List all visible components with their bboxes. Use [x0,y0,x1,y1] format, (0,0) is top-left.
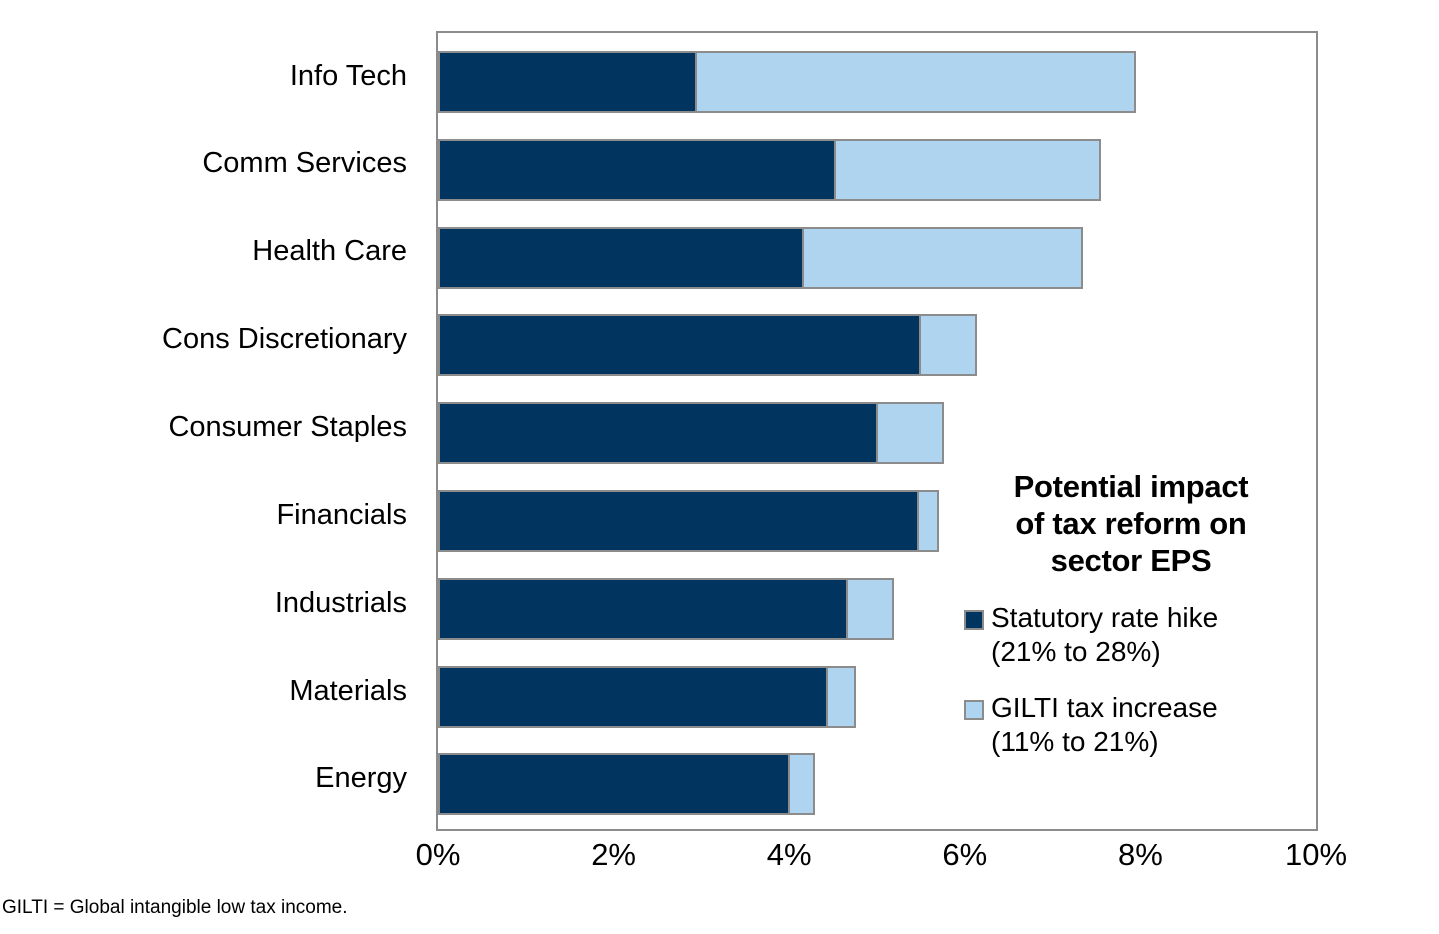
category-label-energy: Energy [0,764,421,793]
chart-legend: Potential impact of tax reform on sector… [958,468,1304,759]
bar-segment-energy-statutory[interactable] [438,753,790,815]
category-label-consumer-staples: Consumer Staples [0,413,421,442]
bar-segment-energy-gilti[interactable] [788,753,815,815]
bar-row-industrials[interactable] [438,578,894,640]
category-label-comm-services: Comm Services [0,149,421,178]
chart-footnote: GILTI = Global intangible low tax income… [2,897,348,919]
bar-row-comm-services[interactable] [438,139,1101,201]
bar-segment-industrials-gilti[interactable] [846,578,894,640]
bar-segment-info-tech-statutory[interactable] [438,51,697,113]
category-label-cons-discretionary: Cons Discretionary [0,325,421,354]
category-label-info-tech: Info Tech [0,62,421,91]
x-tick-label-10: 10% [1285,838,1347,872]
x-axis-tick-labels: 0%2%4%6%8%10% [436,838,1318,878]
category-label-health-care: Health Care [0,237,421,266]
bar-row-materials[interactable] [438,666,856,728]
chart-title: Potential impact of tax reform on sector… [958,468,1304,579]
category-label-industrials: Industrials [0,589,421,618]
bar-segment-materials-statutory[interactable] [438,666,828,728]
legend-label-gilti-line-1: GILTI tax increase [991,692,1218,723]
bar-segment-materials-gilti[interactable] [826,666,856,728]
x-tick-label-8: 8% [1118,838,1163,872]
bar-segment-cons-discretionary-statutory[interactable] [438,314,921,376]
bar-segment-financials-statutory[interactable] [438,490,919,552]
bar-segment-comm-services-statutory[interactable] [438,139,836,201]
bar-segment-industrials-statutory[interactable] [438,578,848,640]
stacked-bar-chart: Info Tech Comm Services Health Care Cons… [0,0,1439,934]
legend-label-statutory-line-2: (21% to 28%) [991,636,1161,667]
category-label-materials: Materials [0,677,421,706]
bar-segment-info-tech-gilti[interactable] [695,51,1136,113]
legend-label-statutory: Statutory rate hike (21% to 28%) [991,601,1218,669]
chart-title-line-1: Potential impact [958,468,1304,505]
x-tick-label-0: 0% [416,838,461,872]
x-tick-label-6: 6% [942,838,987,872]
category-label-financials: Financials [0,501,421,530]
bar-row-consumer-staples[interactable] [438,402,944,464]
category-axis-labels: Info Tech Comm Services Health Care Cons… [0,31,421,831]
bar-segment-cons-discretionary-gilti[interactable] [919,314,977,376]
bar-row-financials[interactable] [438,490,939,552]
bar-row-energy[interactable] [438,753,815,815]
legend-label-gilti: GILTI tax increase (11% to 21%) [991,691,1218,759]
bar-segment-consumer-staples-gilti[interactable] [876,402,944,464]
bar-segment-comm-services-gilti[interactable] [834,139,1101,201]
bar-row-cons-discretionary[interactable] [438,314,977,376]
x-tick-label-2: 2% [591,838,636,872]
legend-swatch-gilti-icon [964,700,984,720]
legend-item-statutory-rate-hike[interactable]: Statutory rate hike (21% to 28%) [958,601,1304,669]
bar-segment-health-care-gilti[interactable] [802,227,1083,289]
chart-title-line-2: of tax reform on [958,505,1304,542]
legend-swatch-statutory-icon [964,610,984,630]
bar-row-health-care[interactable] [438,227,1083,289]
bar-segment-health-care-statutory[interactable] [438,227,804,289]
bar-segment-consumer-staples-statutory[interactable] [438,402,878,464]
chart-title-line-3: sector EPS [958,542,1304,579]
plot-area: Potential impact of tax reform on sector… [436,31,1318,831]
bar-row-info-tech[interactable] [438,51,1136,113]
x-tick-label-4: 4% [767,838,812,872]
legend-item-gilti-tax-increase[interactable]: GILTI tax increase (11% to 21%) [958,691,1304,759]
legend-label-gilti-line-2: (11% to 21%) [991,726,1159,757]
bar-segment-financials-gilti[interactable] [917,490,939,552]
legend-label-statutory-line-1: Statutory rate hike [991,602,1218,633]
